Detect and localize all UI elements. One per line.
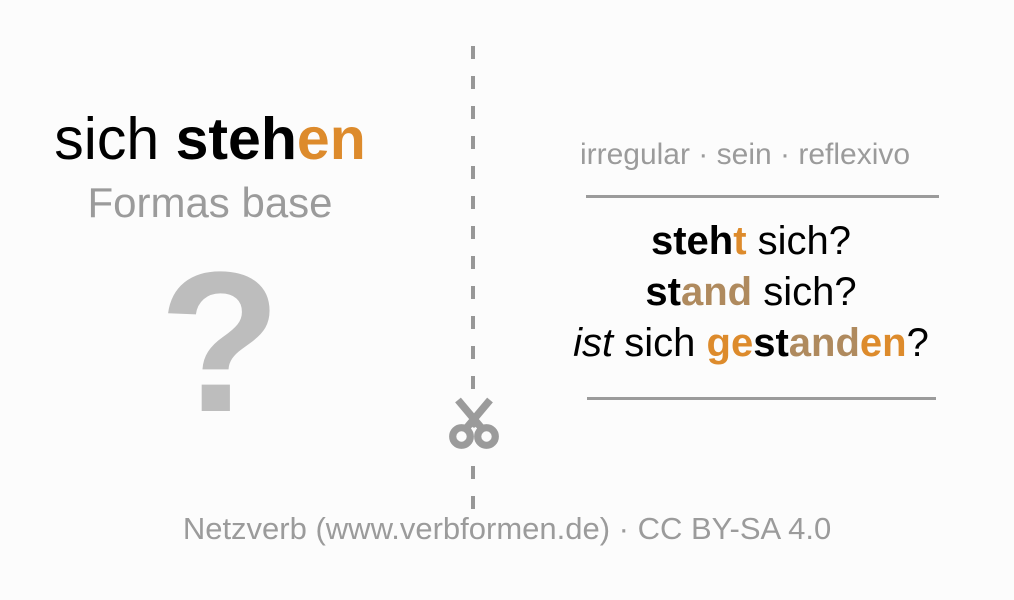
headword-stem: steh (176, 106, 297, 172)
verb-form-perfect: ist sich gestanden? (506, 318, 996, 369)
preterite-stem: st (645, 270, 681, 314)
perfect-question-mark: ? (907, 321, 929, 365)
perfect-reflexive: sich (613, 321, 706, 365)
divider-bottom (587, 397, 936, 400)
verb-forms-list: steht sich? stand sich? ist sich gestand… (506, 216, 996, 369)
verb-flashcard: sich stehen Formas base ? irregular · se… (0, 0, 1014, 600)
footer-credit: Netzverb (www.verbformen.de) · CC BY-SA … (0, 508, 1014, 550)
scissors-icon (440, 392, 508, 454)
subtitle-label: Formas base (0, 176, 420, 230)
perfect-prefix: ge (707, 321, 754, 365)
present-ending: t (733, 219, 746, 263)
verb-form-preterite: stand sich? (506, 267, 996, 318)
headword-ending: en (297, 106, 366, 172)
perfect-auxiliary: ist (573, 321, 613, 365)
perfect-suffix: en (860, 321, 907, 365)
verb-attributes-line: irregular · sein · reflexivo (506, 135, 984, 175)
perfect-stem: st (753, 321, 789, 365)
verb-form-present: steht sich? (506, 216, 996, 267)
present-reflexive: sich? (747, 219, 852, 263)
headword-reflexive-pronoun: sich (54, 106, 175, 172)
present-stem: steh (651, 219, 733, 263)
question-mark-placeholder: ? (0, 243, 440, 443)
page-title-headword: sich stehen (0, 103, 420, 175)
preterite-reflexive: sich? (752, 270, 857, 314)
perfect-ablaut: and (789, 321, 860, 365)
preterite-ablaut: and (681, 270, 752, 314)
divider-top (586, 195, 939, 198)
